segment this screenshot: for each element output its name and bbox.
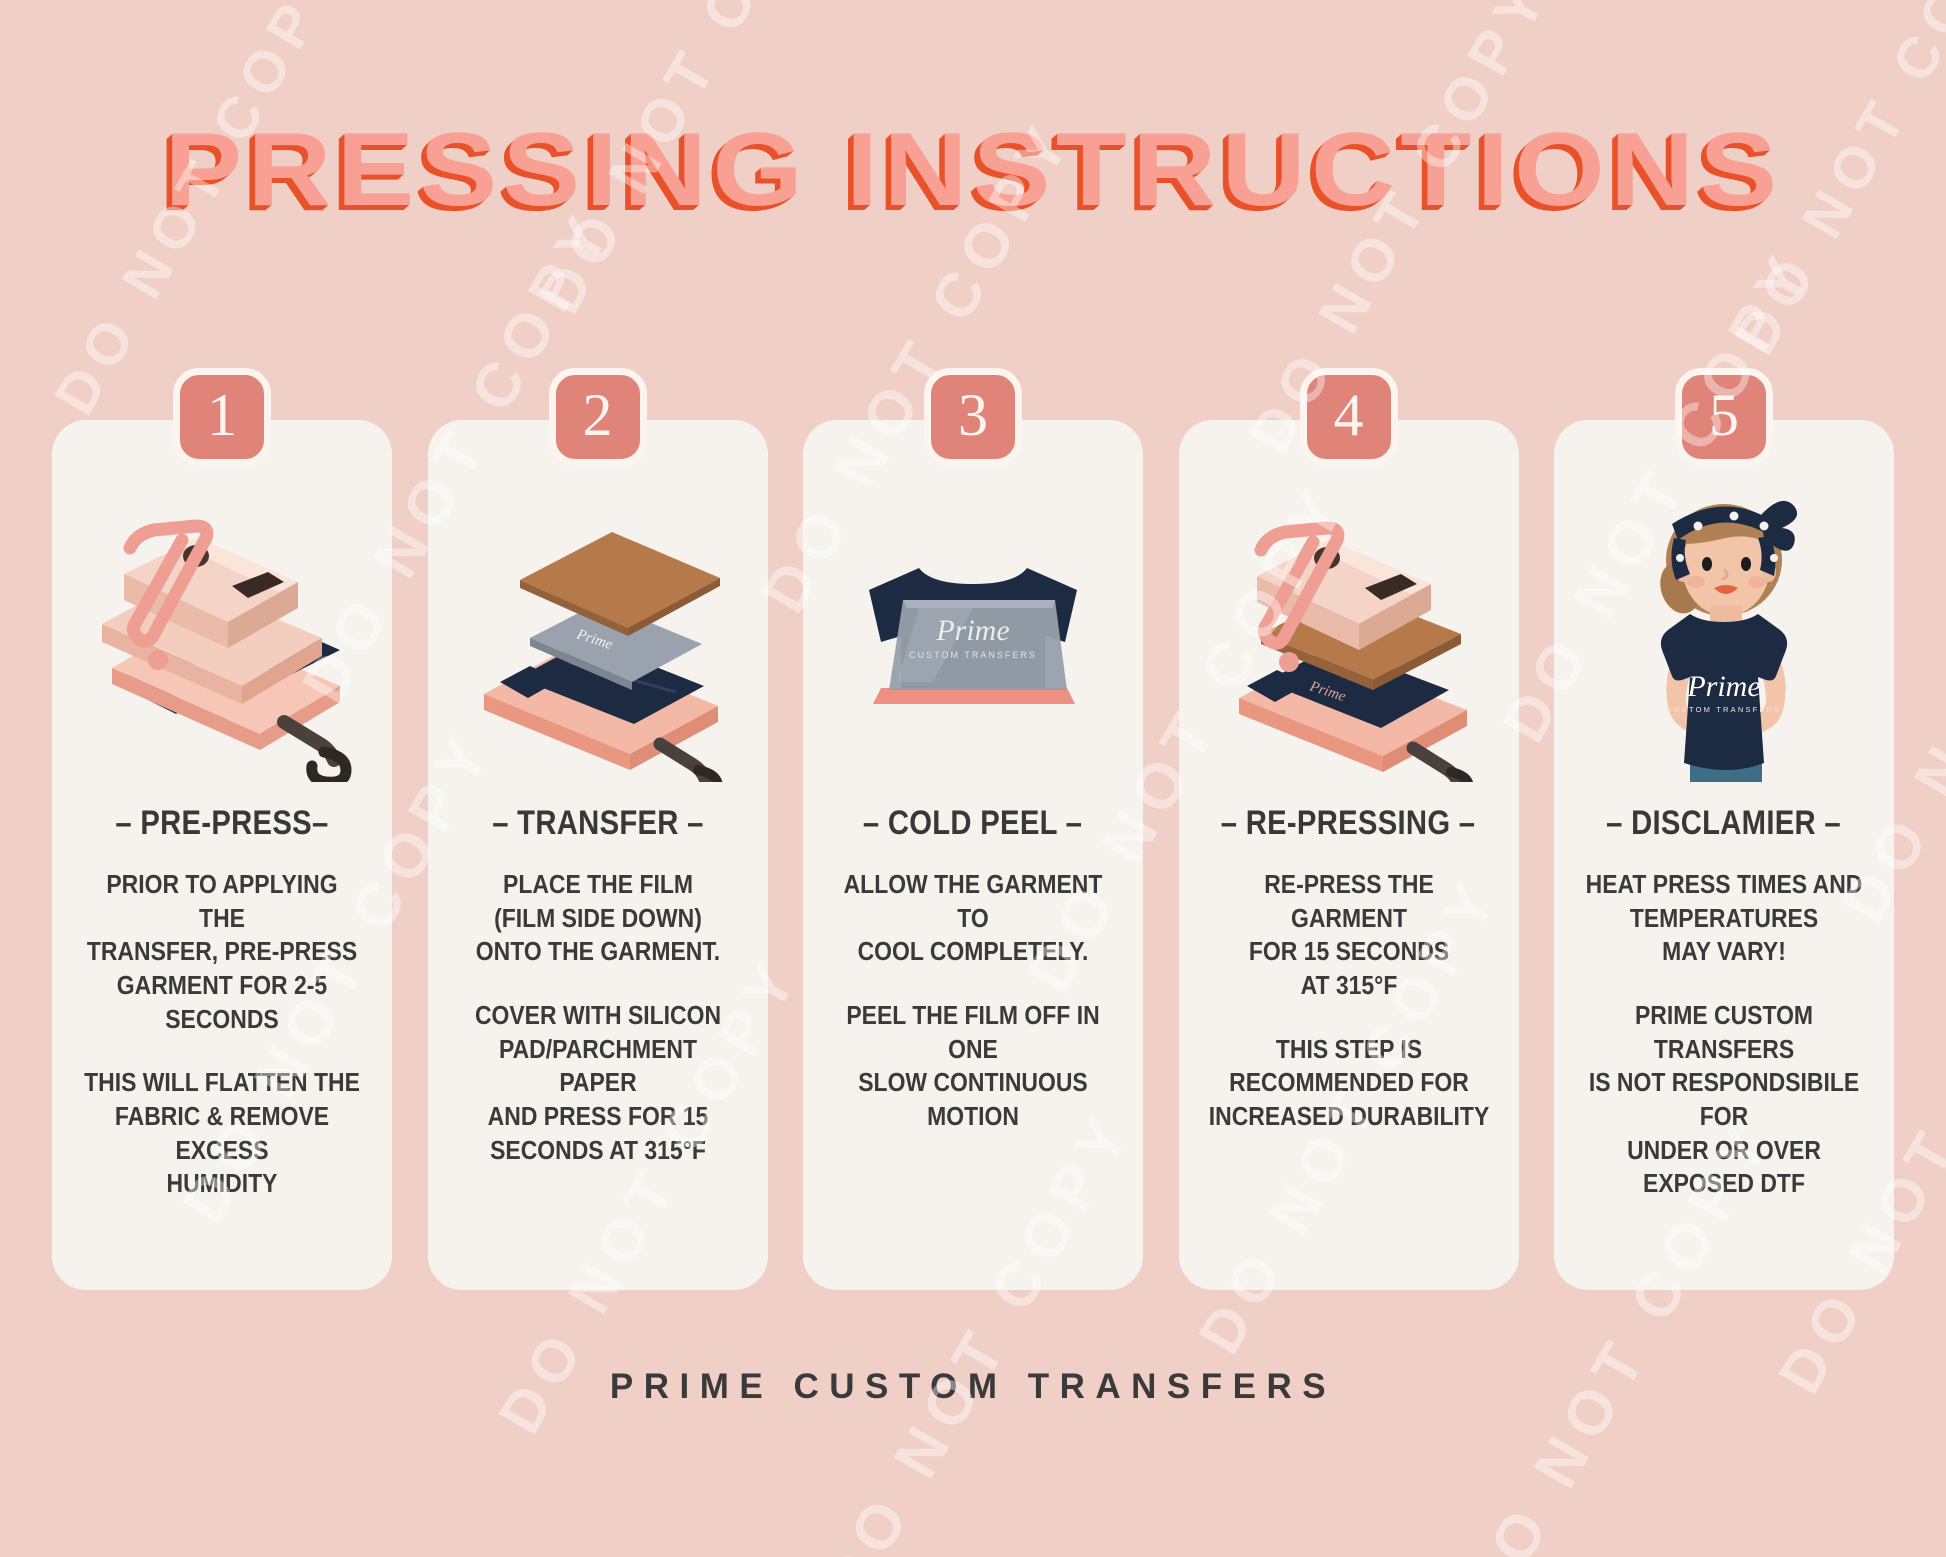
step-body: PLACE THE FILM (FILM SIDE DOWN) ONTO THE… [442,869,754,1168]
brand-footer-text: PRIME CUSTOM TRANSFERS [610,1367,1336,1406]
step-number: 5 [1709,385,1739,445]
step-badge-1: 1 [173,368,271,466]
svg-text:Prime: Prime [1686,670,1760,703]
svg-text:Prime: Prime [935,614,1009,647]
step-heading: – DISCLAMIER – [1607,804,1842,843]
svg-text:CUSTOM TRANSFERS: CUSTOM TRANSFERS [1667,705,1782,714]
girl-wearing-tee-icon: Prime CUSTOM TRANSFERS [1574,482,1874,782]
watermark-text: DO NOT COPY [1235,0,1564,465]
step-heading: – PRE-PRESS– [115,804,328,843]
footer: PRIME CUSTOM TRANSFERS [0,1367,1946,1407]
step-body: PRIOR TO APPLYING THE TRANSFER, PRE-PRES… [66,869,378,1202]
step-paragraph: PRIOR TO APPLYING THE TRANSFER, PRE-PRES… [82,869,363,1037]
step-badge-4: 4 [1300,368,1398,466]
step-badge-2: 2 [549,368,647,466]
step-number: 2 [583,385,613,445]
step-paragraph: PEEL THE FILM OFF IN ONE SLOW CONTINUOUS… [833,1000,1114,1135]
steps-row: 1 [52,420,1894,1290]
step-heading: – COLD PEEL – [863,804,1082,843]
step-card-1[interactable]: 1 [52,420,392,1290]
step-paragraph: ALLOW THE GARMENT TO COOL COMPLETELY. [833,869,1114,970]
transfer-layers-icon: Prime [448,482,748,782]
step-paragraph: PRIME CUSTOM TRANSFERS IS NOT RESPONDSIB… [1584,1000,1865,1202]
step-card-5[interactable]: 5 [1554,420,1894,1290]
step-number: 3 [958,385,988,445]
step-number: 1 [207,385,237,445]
re-press-stack-icon: Prime [1199,482,1499,782]
cold-peel-shirt-icon: Prime CUSTOM TRANSFERS [823,482,1123,782]
step-card-2[interactable]: 2 Prime [428,420,768,1290]
step-paragraph: COVER WITH SILICON PAD/PARCHMENT PAPER A… [457,1000,738,1168]
step-body: ALLOW THE GARMENT TO COOL COMPLETELY. PE… [817,869,1129,1135]
step-badge-5: 5 [1675,368,1773,466]
step-card-4[interactable]: 4 Prime [1179,420,1519,1290]
heat-press-icon [72,482,372,782]
page-title: PRESSING INSTRUCTIONS [164,118,1782,222]
page-title-container: PRESSING INSTRUCTIONS [0,118,1946,222]
step-paragraph: THIS WILL FLATTEN THE FABRIC & REMOVE EX… [82,1067,363,1202]
step-paragraph: THIS STEP IS RECOMMENDED FOR INCREASED D… [1208,1034,1489,1135]
step-card-3[interactable]: 3 Prime CUSTOM TRANSFERS [803,420,1143,1290]
step-number: 4 [1334,385,1364,445]
step-heading: – TRANSFER – [492,804,703,843]
svg-text:CUSTOM TRANSFERS: CUSTOM TRANSFERS [909,650,1037,660]
step-paragraph: PLACE THE FILM (FILM SIDE DOWN) ONTO THE… [457,869,738,970]
step-body: RE-PRESS THE GARMENT FOR 15 SECONDS AT 3… [1193,869,1505,1135]
step-paragraph: HEAT PRESS TIMES AND TEMPERATURES MAY VA… [1584,869,1865,970]
step-badge-3: 3 [924,368,1022,466]
step-body: HEAT PRESS TIMES AND TEMPERATURES MAY VA… [1568,869,1880,1202]
step-paragraph: RE-PRESS THE GARMENT FOR 15 SECONDS AT 3… [1208,869,1489,1004]
step-heading: – RE-PRESSING – [1221,804,1476,843]
poster-root: DO NOT COPY DO NOT COPY DO NOT COPY DO N… [0,0,1946,1557]
